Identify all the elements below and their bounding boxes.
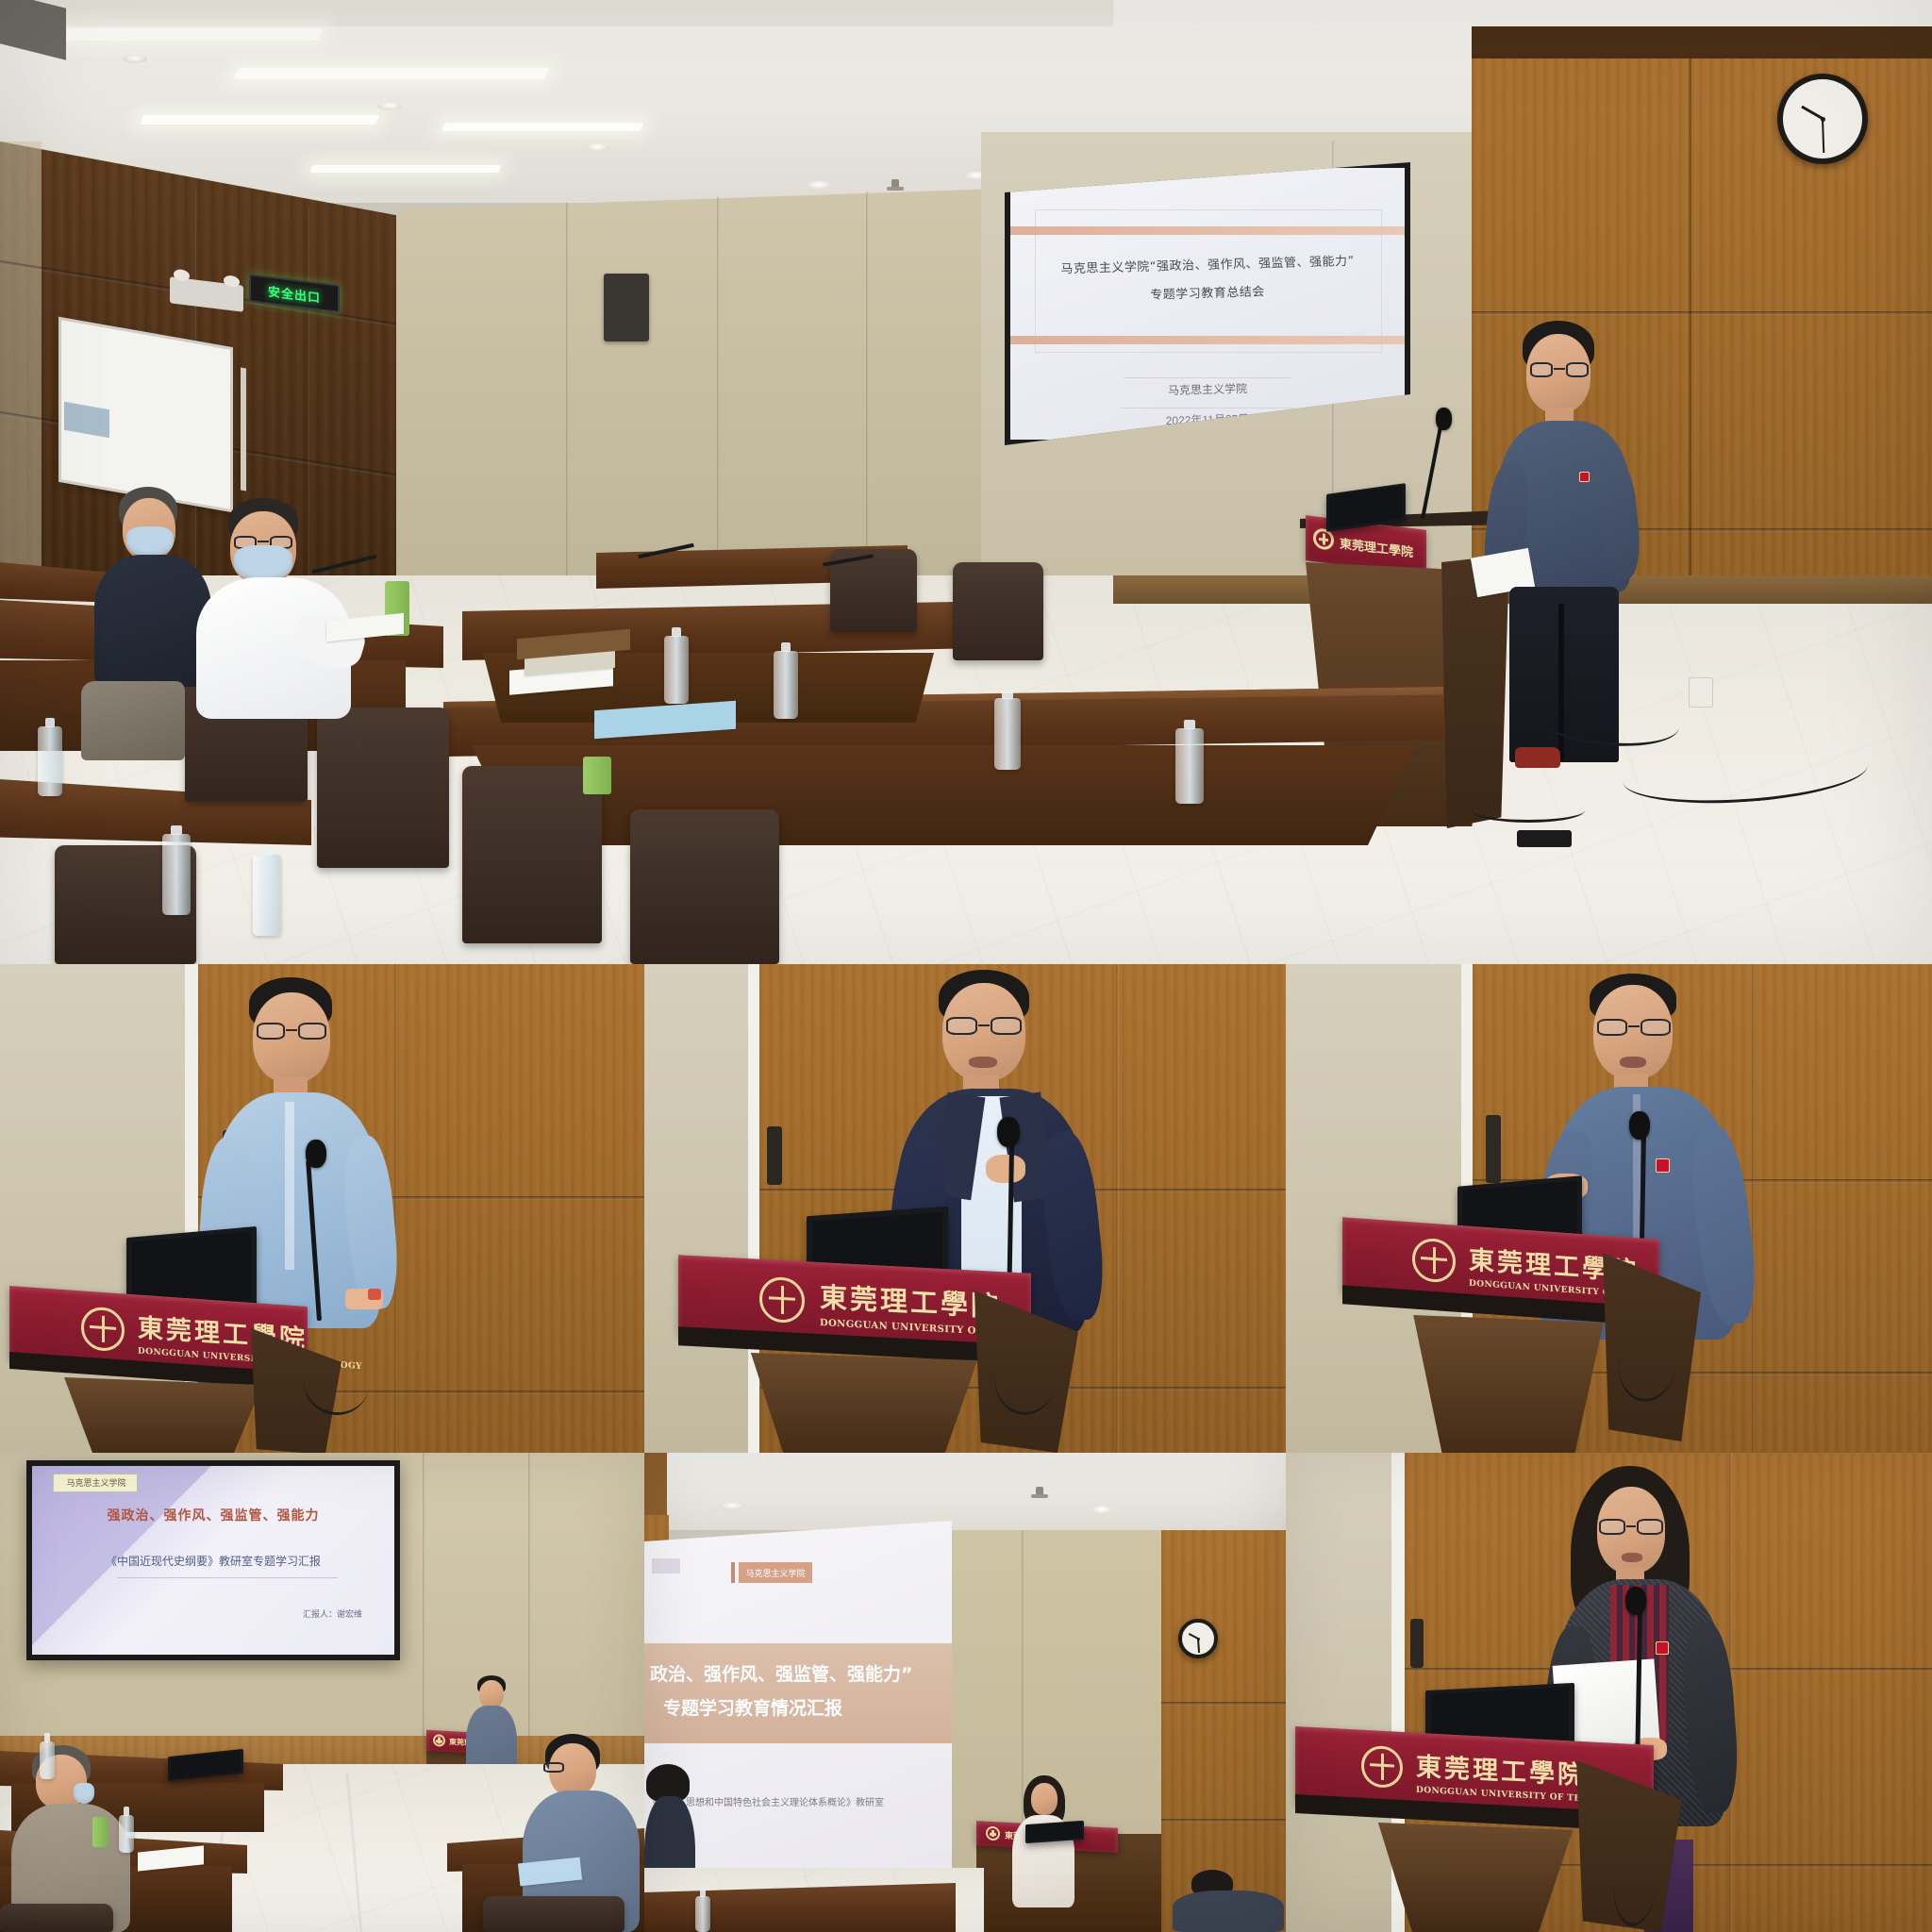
panel-female-speaker-reading-paper[interactable]: 東莞理工學院 DONGGUAN UNIVERSITY OF TECHNOLOGY	[1286, 1453, 1932, 1932]
chair	[317, 708, 449, 868]
collage-row-top: 安全出口	[0, 0, 1932, 964]
ceiling-speaker	[604, 274, 649, 341]
slide-title: 强政治、强作风、强监管、强能力	[32, 1506, 394, 1524]
slide-badge: 马克思主义学院	[745, 1567, 805, 1579]
water-bottle	[162, 834, 191, 915]
seated-attendee	[1173, 1870, 1286, 1932]
panel-speaker-light-blue-shirt[interactable]: 東莞理工學院 DONGGUAN UNIVERSITY OF TECHNOLOGY	[0, 964, 644, 1453]
exit-sign-label: 安全出口	[268, 281, 321, 306]
water-bottle	[664, 636, 689, 704]
wall-clock	[1178, 1619, 1218, 1658]
slide-organization: 马克思主义学院	[1010, 376, 1405, 402]
slide-badge: 马克思主义学院	[57, 1476, 136, 1489]
panel-meeting-room-overview[interactable]: 安全出口	[0, 0, 1932, 964]
female-presenter	[1007, 1775, 1082, 1932]
thermos-cup	[583, 757, 611, 794]
projection-screen[interactable]: 马克思主义学院 强政治、强作风、强监管、强能力 《中国近现代史纲要》教研室专题学…	[26, 1460, 400, 1660]
attendee-front	[196, 498, 366, 706]
podium[interactable]: 東莞理工學院 DONGGUAN UNIVERSITY OF TECHNOLOGY	[1295, 1736, 1720, 1932]
water-bottle	[774, 651, 798, 719]
slide-subtitle: 《中国近现代史纲要》教研室专题学习汇报	[32, 1553, 394, 1569]
microphone-head	[1436, 408, 1452, 430]
chair	[462, 766, 602, 943]
microphone-head	[1625, 1587, 1646, 1615]
water-bottle	[1175, 728, 1204, 804]
wall-clock	[1777, 74, 1868, 164]
university-logo-icon	[759, 1276, 805, 1324]
photo-collage: 安全出口	[0, 0, 1932, 1932]
party-emblem-pin	[1656, 1158, 1670, 1173]
collage-row-bottom: 马克思主义学院 强政治、强作风、强监管、强能力 《中国近现代史纲要》教研室专题学…	[0, 1453, 1932, 1932]
panel-speaker-navy-blazer[interactable]: 東莞理工學院 DONGGUAN UNIVERSITY OF TECHNOLOGY	[644, 964, 1286, 1453]
microphone-head	[1629, 1111, 1650, 1140]
water-bottle	[38, 726, 62, 796]
party-emblem-pin	[1656, 1641, 1669, 1655]
water-bottle	[994, 698, 1021, 770]
microphone-head	[997, 1117, 1020, 1147]
microphone-head	[306, 1140, 326, 1168]
slide-title-line2: 专题学习教育情况汇报	[663, 1694, 842, 1720]
panel-room-with-projection-slide[interactable]: 马克思主义学院 强政治、强作风、强监管、强能力 《中国近现代史纲要》教研室专题学…	[0, 1453, 644, 1932]
university-logo-icon	[1361, 1745, 1403, 1789]
chair	[953, 562, 1043, 660]
panel-speaker-blue-shirt-party-pin[interactable]: 東莞理工學院 DONGGUAN UNIVERSITY OF TECHNOLOGY	[1286, 964, 1932, 1453]
university-logo-icon	[81, 1306, 125, 1352]
panel-projection-screen-report-slide[interactable]: 马克思主义学院 政治、强作风、强监管、强能力” 专题学习教育情况汇报 《毛泽东思…	[644, 1453, 1286, 1932]
slide-title-line1: 政治、强作风、强监管、强能力”	[650, 1660, 913, 1686]
podium[interactable]: 東莞理工學院 DONGGUAN UNIVERSITY OF TECHNOLOGY	[1342, 1228, 1767, 1453]
slide-presenter: 汇报人：谢宏维	[303, 1607, 362, 1620]
water-bottle	[253, 855, 281, 936]
university-logo-icon	[1412, 1237, 1456, 1283]
collage-row-middle: 東莞理工學院 DONGGUAN UNIVERSITY OF TECHNOLOGY	[0, 964, 1932, 1453]
chair	[630, 809, 779, 964]
